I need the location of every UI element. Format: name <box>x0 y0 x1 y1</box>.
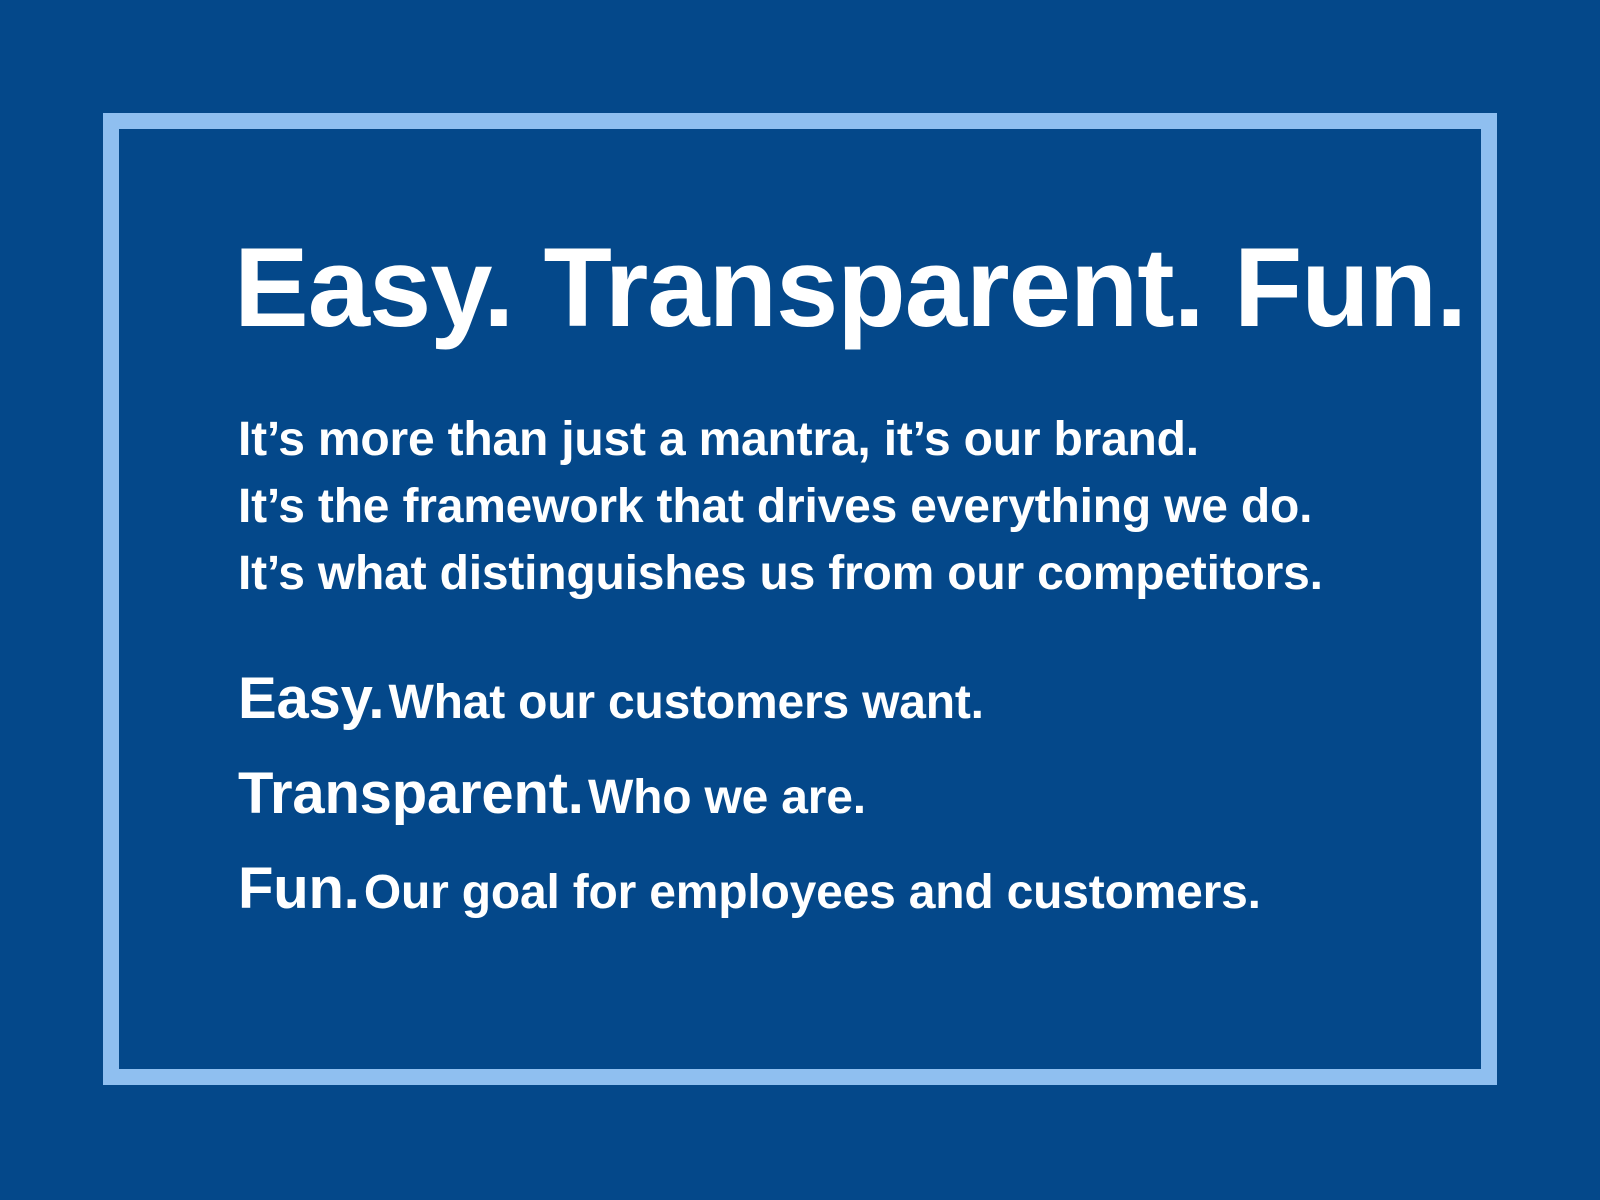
definition-description-fun: Our goal for employees and customers. <box>364 866 1261 919</box>
brand-mantra-slide: Easy. Transparent. Fun. It’s more than j… <box>0 0 1600 1200</box>
intro-paragraph: It’s more than just a mantra, it’s our b… <box>238 406 1398 607</box>
intro-line-1: It’s more than just a mantra, it’s our b… <box>238 406 1398 473</box>
slide-content: Easy. Transparent. Fun. It’s more than j… <box>238 232 1398 944</box>
definition-description-easy: What our customers want. <box>389 676 984 729</box>
definition-item-transparent: Transparent. Who we are. <box>238 754 1398 849</box>
definition-term-easy: Easy. <box>238 666 384 731</box>
definition-term-transparent: Transparent. <box>238 761 584 826</box>
intro-line-2: It’s the framework that drives everythin… <box>238 473 1398 540</box>
definition-item-fun: Fun. Our goal for employees and customer… <box>238 849 1398 944</box>
definition-list: Easy. What our customers want. Transpare… <box>238 659 1398 944</box>
page-title: Easy. Transparent. Fun. <box>234 232 1398 344</box>
definition-item-easy: Easy. What our customers want. <box>238 659 1398 754</box>
intro-line-3: It’s what distinguishes us from our comp… <box>238 540 1398 607</box>
definition-term-fun: Fun. <box>238 856 360 921</box>
definition-description-transparent: Who we are. <box>588 771 866 824</box>
